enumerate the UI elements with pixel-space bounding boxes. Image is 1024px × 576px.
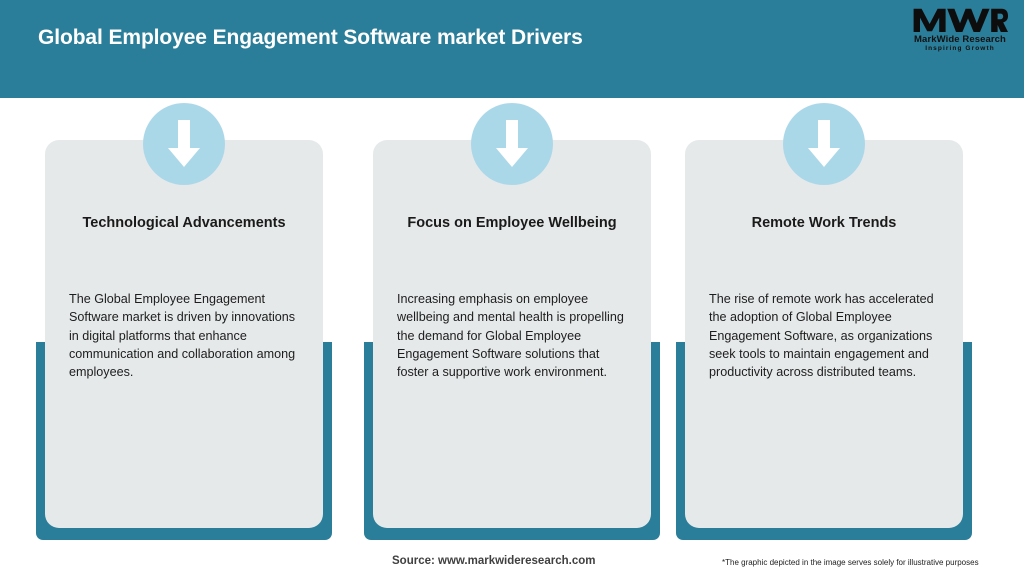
down-arrow-icon (143, 103, 225, 185)
brand-logo: MarkWide Research Inspiring Growth (908, 6, 1012, 58)
card-title: Focus on Employee Wellbeing (387, 214, 637, 232)
card-panel: Focus on Employee Wellbeing Increasing e… (373, 140, 651, 528)
card-description: The Global Employee Engagement Software … (69, 290, 305, 381)
page-header: Global Employee Engagement Software mark… (0, 0, 1024, 98)
card-title: Remote Work Trends (699, 214, 949, 232)
source-label: Source: www.markwideresearch.com (392, 555, 595, 567)
card-description: Increasing emphasis on employee wellbein… (397, 290, 633, 381)
logo-tagline: Inspiring Growth (908, 46, 1012, 53)
disclaimer-label: *The graphic depicted in the image serve… (722, 558, 979, 567)
logo-company-name: MarkWide Research (908, 35, 1012, 45)
driver-card-3: Remote Work Trends The rise of remote wo… (676, 140, 972, 540)
page-title: Global Employee Engagement Software mark… (38, 26, 583, 50)
driver-card-1: Technological Advancements The Global Em… (36, 140, 332, 540)
drivers-card-row: Technological Advancements The Global Em… (0, 98, 1024, 538)
card-title: Technological Advancements (59, 214, 309, 232)
driver-card-2: Focus on Employee Wellbeing Increasing e… (364, 140, 660, 540)
card-description: The rise of remote work has accelerated … (709, 290, 945, 381)
mwr-logo-icon (912, 6, 1008, 34)
card-panel: Technological Advancements The Global Em… (45, 140, 323, 528)
down-arrow-icon (783, 103, 865, 185)
down-arrow-icon (471, 103, 553, 185)
card-panel: Remote Work Trends The rise of remote wo… (685, 140, 963, 528)
